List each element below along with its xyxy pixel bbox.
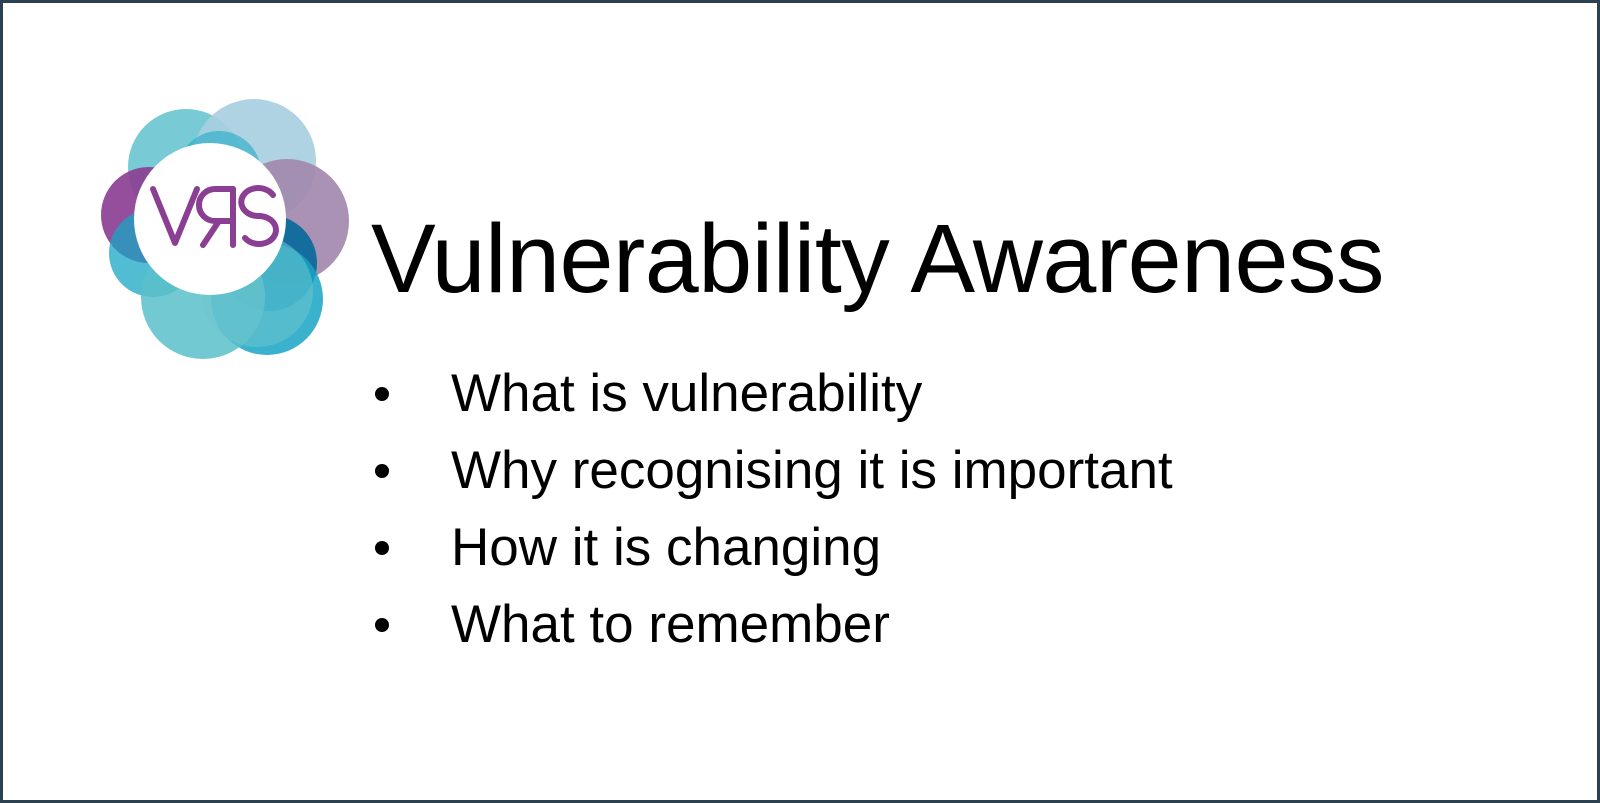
list-item: How it is changing — [371, 509, 1521, 586]
bullet-marker-icon — [375, 387, 389, 401]
list-item: What to remember — [371, 586, 1521, 663]
bullet-marker-icon — [375, 464, 389, 478]
list-item: What is vulnerability — [371, 355, 1521, 432]
list-item: Why recognising it is important — [371, 432, 1521, 509]
slide-canvas: Vulnerability Awareness What is vulnerab… — [0, 0, 1600, 803]
list-item-label: What is vulnerability — [451, 355, 922, 432]
vrs-logo — [91, 85, 353, 360]
slide-title: Vulnerability Awareness — [371, 210, 1551, 307]
bullet-marker-icon — [375, 618, 389, 632]
list-item-label: What to remember — [451, 586, 890, 663]
list-item-label: Why recognising it is important — [451, 432, 1173, 509]
bullet-marker-icon — [375, 541, 389, 555]
bullet-list: What is vulnerability Why recognising it… — [371, 355, 1521, 663]
list-item-label: How it is changing — [451, 509, 881, 586]
